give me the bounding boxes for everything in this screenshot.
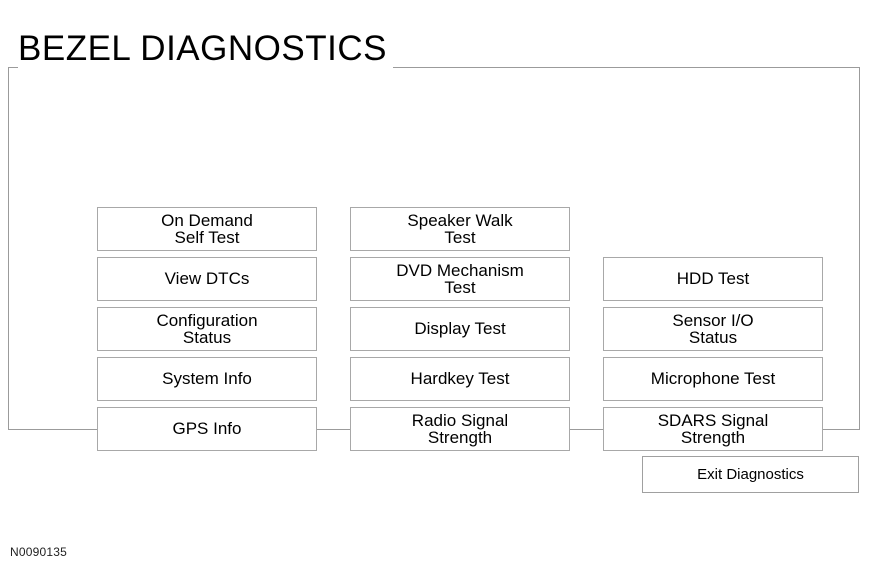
button-label: DVD Mechanism Test — [355, 262, 565, 297]
button-speaker-walk-test[interactable]: Speaker Walk Test — [350, 207, 570, 251]
button-label: On Demand Self Test — [102, 212, 312, 247]
button-hdd-test[interactable]: HDD Test — [603, 257, 823, 301]
button-hardkey-test[interactable]: Hardkey Test — [350, 357, 570, 401]
button-label: Display Test — [355, 320, 565, 338]
button-gps-info[interactable]: GPS Info — [97, 407, 317, 451]
button-label: Radio Signal Strength — [355, 412, 565, 447]
page-title: BEZEL DIAGNOSTICS — [18, 30, 393, 68]
exit-diagnostics-label: Exit Diagnostics — [697, 466, 804, 483]
button-column-1: On Demand Self Test View DTCs Configurat… — [97, 207, 317, 451]
button-microphone-test[interactable]: Microphone Test — [603, 357, 823, 401]
button-label: Speaker Walk Test — [355, 212, 565, 247]
button-label: Hardkey Test — [355, 370, 565, 388]
diagnostics-button-grid: On Demand Self Test View DTCs Configurat… — [97, 207, 823, 451]
diagnostics-screen: BEZEL DIAGNOSTICS On Demand Self Test Vi… — [0, 0, 870, 570]
button-label: SDARS Signal Strength — [608, 412, 818, 447]
empty-grid-slot — [603, 207, 823, 251]
button-system-info[interactable]: System Info — [97, 357, 317, 401]
button-label: GPS Info — [102, 420, 312, 438]
button-display-test[interactable]: Display Test — [350, 307, 570, 351]
button-label: HDD Test — [608, 270, 818, 288]
button-label: View DTCs — [102, 270, 312, 288]
button-label: Configuration Status — [102, 312, 312, 347]
button-radio-signal-strength[interactable]: Radio Signal Strength — [350, 407, 570, 451]
diagnostics-panel: On Demand Self Test View DTCs Configurat… — [8, 67, 860, 430]
button-configuration-status[interactable]: Configuration Status — [97, 307, 317, 351]
button-label: Sensor I/O Status — [608, 312, 818, 347]
button-column-2: Speaker Walk Test DVD Mechanism Test Dis… — [350, 207, 570, 451]
button-view-dtcs[interactable]: View DTCs — [97, 257, 317, 301]
button-on-demand-self-test[interactable]: On Demand Self Test — [97, 207, 317, 251]
button-dvd-mechanism-test[interactable]: DVD Mechanism Test — [350, 257, 570, 301]
button-label: Microphone Test — [608, 370, 818, 388]
footer-reference-code: N0090135 — [10, 545, 67, 559]
button-column-3: HDD Test Sensor I/O Status Microphone Te… — [603, 207, 823, 451]
button-label: System Info — [102, 370, 312, 388]
button-sdars-signal-strength[interactable]: SDARS Signal Strength — [603, 407, 823, 451]
exit-diagnostics-button[interactable]: Exit Diagnostics — [642, 456, 859, 493]
button-sensor-io-status[interactable]: Sensor I/O Status — [603, 307, 823, 351]
